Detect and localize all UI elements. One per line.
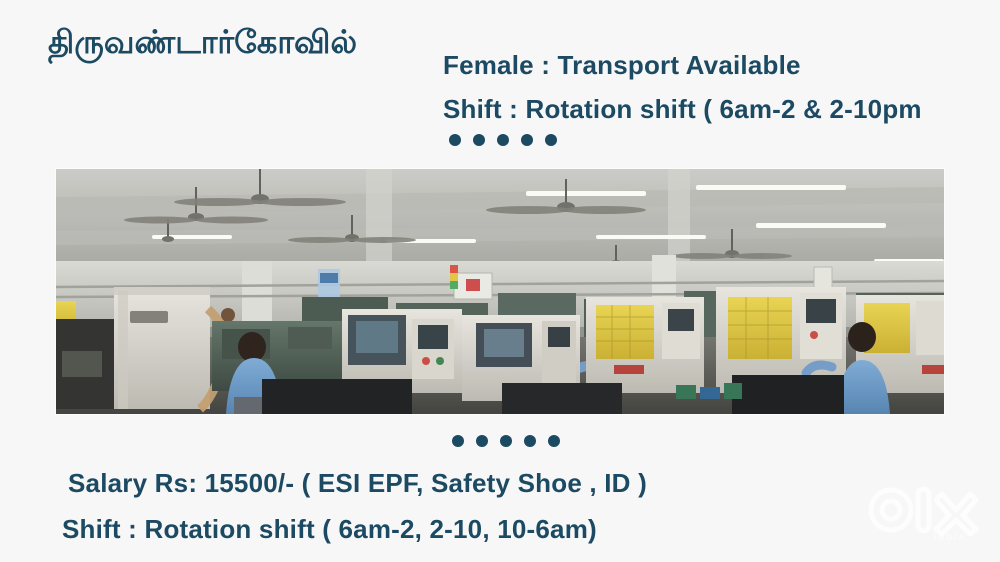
olx-watermark-region: INDIA — [934, 533, 966, 542]
olx-logo-icon: INDIA — [864, 482, 982, 544]
header-line-shift: Shift : Rotation shift ( 6am-2 & 2-10pm — [443, 94, 922, 125]
dot-icon — [521, 134, 533, 146]
factory-photo-illustration — [56, 169, 944, 414]
factory-photo — [56, 169, 944, 414]
page-title: திருவண்டார்கோவில் — [48, 24, 357, 61]
dot-icon — [497, 134, 509, 146]
dot-icon — [473, 134, 485, 146]
header-line-female-transport: Female : Transport Available — [443, 50, 801, 81]
divider-dots-top — [449, 134, 557, 146]
dot-icon — [545, 134, 557, 146]
dot-icon — [449, 134, 461, 146]
dot-icon — [452, 435, 464, 447]
dot-icon — [500, 435, 512, 447]
dot-icon — [548, 435, 560, 447]
olx-watermark: INDIA — [864, 482, 982, 544]
footer-line-shift: Shift : Rotation shift ( 6am-2, 2-10, 10… — [62, 514, 597, 545]
dot-icon — [476, 435, 488, 447]
dot-icon — [524, 435, 536, 447]
footer-line-salary: Salary Rs: 15500/- ( ESI EPF, Safety Sho… — [68, 468, 647, 499]
job-advertisement-poster: திருவண்டார்கோவில் Female : Transport Ava… — [0, 0, 1000, 562]
divider-dots-bottom — [452, 435, 560, 447]
